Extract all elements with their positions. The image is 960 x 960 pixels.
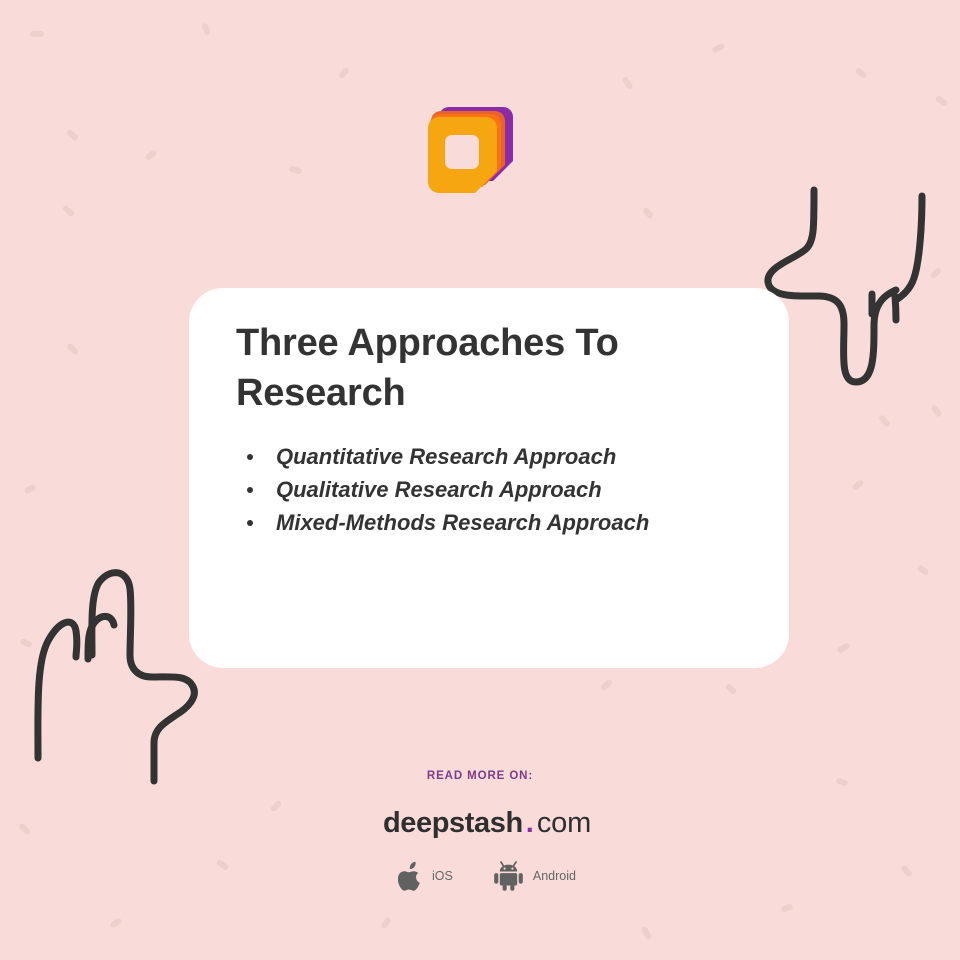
ios-label: iOS xyxy=(432,869,453,883)
confetti-dash xyxy=(338,66,350,79)
read-more-label: READ MORE ON: xyxy=(0,770,960,782)
confetti-dash xyxy=(621,76,633,90)
wordmark-name: deepstash xyxy=(383,809,523,838)
deepstash-logo xyxy=(427,103,519,198)
confetti-dash xyxy=(836,642,850,654)
confetti-dash xyxy=(851,479,864,491)
pointing-up-hand-icon xyxy=(26,563,211,793)
content-card: Three Approaches To Research Quantitativ… xyxy=(189,288,789,668)
confetti-dash xyxy=(878,414,891,428)
wordmark-dot: . xyxy=(523,809,537,838)
poster-canvas: Three Approaches To Research Quantitativ… xyxy=(0,0,960,960)
list-item: Mixed-Methods Research Approach xyxy=(276,506,743,539)
wordmark-tld: com xyxy=(537,809,591,838)
page-title: Three Approaches To Research xyxy=(236,318,743,418)
confetti-dash xyxy=(288,165,302,175)
confetti-dash xyxy=(780,903,793,913)
confetti-dash xyxy=(641,926,653,940)
confetti-dash xyxy=(144,149,157,161)
android-icon xyxy=(493,860,524,891)
confetti-dash xyxy=(66,342,80,355)
confetti-dash xyxy=(934,95,948,107)
confetti-dash xyxy=(600,678,614,691)
confetti-dash xyxy=(380,916,392,929)
ios-store-badge[interactable]: iOS xyxy=(398,861,453,891)
confetti-dash xyxy=(30,31,44,37)
list-item: Quantitative Research Approach xyxy=(276,440,743,473)
stacked-squares-icon xyxy=(427,103,519,198)
confetti-dash xyxy=(23,484,36,495)
approaches-list: Quantitative Research Approach Qualitati… xyxy=(236,440,743,539)
android-label: Android xyxy=(533,869,576,883)
footer: READ MORE ON: deepstash.com iOS xyxy=(0,770,960,891)
confetti-dash xyxy=(711,43,725,54)
confetti-dash xyxy=(642,207,654,220)
confetti-dash xyxy=(930,404,943,418)
confetti-dash xyxy=(62,205,76,218)
android-store-badge[interactable]: Android xyxy=(493,860,576,891)
store-badges: iOS Android xyxy=(0,860,960,891)
confetti-dash xyxy=(854,67,867,79)
confetti-dash xyxy=(201,22,211,35)
confetti-dash xyxy=(66,128,80,141)
confetti-dash xyxy=(109,917,122,929)
deepstash-wordmark[interactable]: deepstash.com xyxy=(0,809,960,838)
list-item: Qualitative Research Approach xyxy=(276,473,743,506)
confetti-dash xyxy=(916,564,929,576)
apple-icon xyxy=(398,861,423,891)
confetti-dash xyxy=(725,683,738,696)
